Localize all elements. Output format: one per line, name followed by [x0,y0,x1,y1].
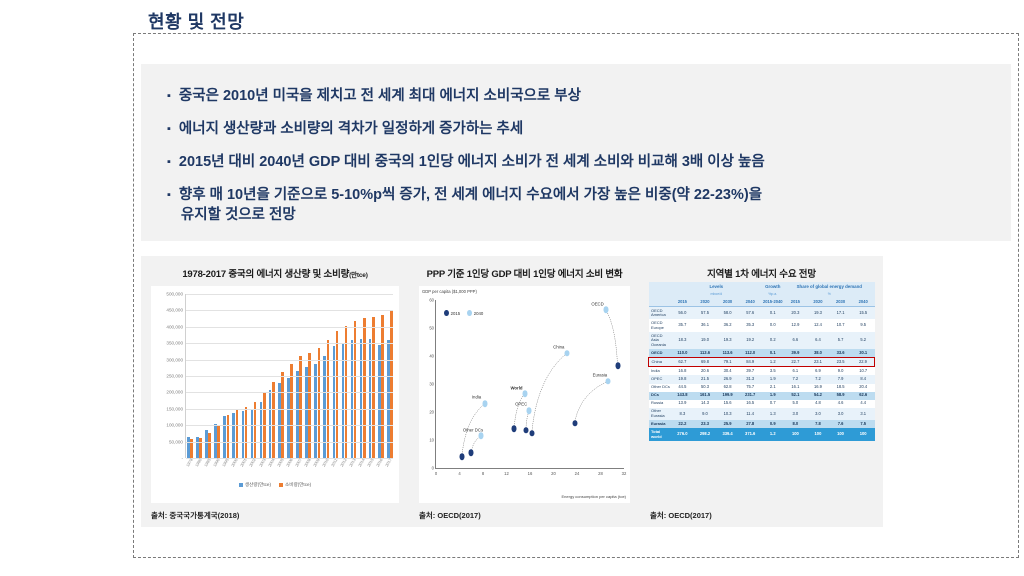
x-axis-tick: 2015 [366,458,375,468]
legend-item: 생산량(만tce) [239,482,271,488]
y-axis-tick: 200,000 [166,390,183,395]
scatter-chart: GDP per capita ($1,000 PPP) 20152040 010… [419,286,630,503]
table-cell: 298.2 [694,428,717,441]
bullet-marker: ▪ [167,86,171,106]
table-cell: 22.2 [671,420,694,428]
table-row-label: OECD America [649,306,672,319]
chart-title-unit: (만tce) [349,272,368,279]
grid-line [186,409,393,410]
table-group-subheader: % [784,290,874,297]
table-row-label: OECD Asia Oceania [649,332,672,349]
table-cell: 52.1 [784,392,807,400]
table-cell: 12.9 [784,319,807,332]
table-cell: 7.6 [829,420,852,428]
legend-item: 소비량(만tce) [279,482,311,488]
table-cell: 100 [852,428,875,441]
table-cell: 1.2 [761,358,784,367]
table-cell: 100 [807,428,830,441]
table-row-label: India [649,367,672,376]
table-cell: 16.9 [807,384,830,392]
table-cell: 35.3 [739,319,762,332]
table-cell: 6.6 [784,332,807,349]
table-cell: 3.1 [852,408,875,421]
table-row: India16.820.630.439.73.56.16.99.010.7 [649,367,875,376]
table-cell: 35.7 [671,319,694,332]
table-cell: 23.5 [829,358,852,367]
scatter-y-axis-label: GDP per capita ($1,000 PPP) [422,289,477,294]
y-axis-tick: 450,000 [166,308,183,313]
grid-line [186,343,393,344]
bar-legend: 생산량(만tce)소비량(만tce) [151,482,399,488]
grid-line [186,327,393,328]
slide: 현황 및 전망 ▪ 중국은 2010년 미국을 제치고 전 세계 최대 에너지 … [0,0,1024,576]
table-cell: 15.6 [716,400,739,408]
table-column-header: 2015-2040 [761,298,784,307]
bar [272,382,275,458]
table-cell: 113.6 [716,349,739,358]
bar [363,318,366,458]
table-column-header: 2040 [739,298,762,307]
table-cell: 15.5 [852,306,875,319]
table-group-subheader: %p.a. [761,290,784,297]
table-row: OPEC19.821.526.931.31.97.27.27.98.4 [649,375,875,383]
table-cell: 5.0 [784,400,807,408]
table-cell: 57.5 [694,306,717,319]
grid-line [186,310,393,311]
bar [336,331,339,458]
table-cell: 12.4 [807,319,830,332]
table-cell: 4.6 [829,400,852,408]
x-axis-tick: 2009 [312,458,321,468]
table-cell: 3.0 [784,408,807,421]
table-row-label: DCs [649,392,672,400]
table-cell: 33.6 [829,349,852,358]
table-cell: 62.7 [671,358,694,367]
table-column-header: 2030 [716,298,739,307]
x-axis-tick: 1980 [194,458,203,468]
y-axis-tick: 150,000 [166,406,183,411]
table-cell: 36.2 [716,319,739,332]
table-cell: 20.6 [694,367,717,376]
chart-title-text: PPP 기준 1인당 GDP 대비 1인당 에너지 소비 변화 [427,269,623,280]
table-cell: 26.9 [716,375,739,383]
table-row: OECD America56.057.558.057.60.120.319.31… [649,306,875,319]
table-cell: 0.1 [761,306,784,319]
table-cell: 69.8 [694,358,717,367]
table-column-header [649,298,672,307]
x-axis-tick: 2006 [285,458,294,468]
table-group-header: Growth [761,282,784,290]
table-cell: 54.2 [807,392,830,400]
page-title: 현황 및 전망 [148,8,244,34]
x-axis-tick: 2010 [321,458,330,468]
table-cell: 20.3 [784,306,807,319]
table-cell: 75.7 [739,384,762,392]
y-axis-tick: 10 [429,438,434,443]
table-cell: 44.5 [671,384,694,392]
table-cell: 0.7 [761,400,784,408]
table-column-header: 2015 [784,298,807,307]
y-axis-tick: - [181,456,183,461]
scatter-point-label: OECD [591,301,603,306]
table-cell: 56.0 [671,306,694,319]
table-cell: 143.8 [671,392,694,400]
scatter-x-axis-label: Energy consumption per capita (toe) [562,494,626,499]
grid-line [186,442,393,443]
table-cell: 1.3 [761,408,784,421]
table-cell: 16.8 [671,367,694,376]
table-column-header: 2020 [694,298,717,307]
x-axis-tick: 20 [551,471,556,476]
x-axis-tick: 1985 [203,458,212,468]
x-axis-tick: 2000 [230,458,239,468]
table-cell: 10.7 [852,367,875,376]
table-cell: 8.3 [671,408,694,421]
table-cell: 25.9 [716,420,739,428]
bar [372,317,375,458]
table-cell: 19.0 [694,332,717,349]
table-row: Other Eurasia8.39.010.311.41.33.03.03.03… [649,408,875,421]
table-group-header: Levels [671,282,761,290]
x-axis-tick: 8 [482,471,484,476]
table-cell: 22.9 [852,358,875,367]
table-cell: 339.4 [716,428,739,441]
table-cell: 57.6 [739,306,762,319]
table-cell: 18.5 [829,384,852,392]
table-row: Russia13.914.315.616.50.75.04.84.64.4 [649,400,875,408]
x-axis-tick: 2013 [348,458,357,468]
table-group-subheader: mboe/d [671,290,761,297]
table-group-header: Share of global energy demand [784,282,874,290]
x-axis-tick: 2014 [357,458,366,468]
table-cell: 110.0 [671,349,694,358]
table-cell: 39.7 [739,367,762,376]
y-axis-tick: 20 [429,410,434,415]
scatter-plot-area: 20152040 0102030405060048121620242832Ind… [435,300,624,469]
table-cell: 3.5 [761,367,784,376]
table-cell: 30.4 [716,367,739,376]
bullet-text: 2015년 대비 2040년 GDP 대비 중국의 1인당 에너지 소비가 전 … [179,152,765,172]
y-axis-tick: 50 [429,326,434,331]
table-row-label: Eurasia [649,420,672,428]
y-axis-tick: 40 [429,354,434,359]
bar-chart: -50,000100,000150,000200,000250,000300,0… [151,286,399,503]
table-row: OECD110.0113.6113.6112.00.139.938.033.63… [649,349,875,358]
table-row-label: Total world [649,428,672,441]
x-axis-tick: 2002 [248,458,257,468]
bar [354,321,357,458]
table-cell: 7.9 [829,375,852,383]
table-cell: 371.6 [739,428,762,441]
table-cell: 10.7 [829,319,852,332]
chart-panel-gdp-energy: PPP 기준 1인당 GDP 대비 1인당 에너지 소비 변화 GDP per … [409,256,640,527]
bar [227,415,230,458]
table-cell: 9.0 [829,367,852,376]
table-cell: 84.9 [739,358,762,367]
table-cell: 21.5 [694,375,717,383]
table-cell: 9.0 [694,408,717,421]
bar [254,402,257,458]
table-cell: 4.4 [852,400,875,408]
table-row: DCs143.8161.5199.9231.71.952.154.258.962… [649,392,875,400]
table-cell: 0.0 [761,319,784,332]
table-cell: 276.0 [671,428,694,441]
table-cell: 62.6 [852,392,875,400]
table-row-label: China [649,358,672,367]
x-axis-tick: 0 [435,471,437,476]
table-cell: 50.3 [694,384,717,392]
chart-title: 1978-2017 중국의 에너지 생산량 및 소비량(만tce) [141,256,409,280]
table-cell: 1.9 [761,375,784,383]
table-cell: 8.0 [784,420,807,428]
table-cell: 0.2 [761,332,784,349]
x-axis-tick: 2001 [239,458,248,468]
table-cell: 16.1 [784,384,807,392]
y-axis-tick: 100,000 [166,423,183,428]
table-cell: 112.0 [739,349,762,358]
bullet-text: 중국은 2010년 미국을 제치고 전 세계 최대 에너지 소비국으로 부상 [179,86,581,106]
bar [390,311,393,458]
table-row: Other DCs44.550.362.875.72.116.116.918.5… [649,384,875,392]
bullet-marker: ▪ [167,185,171,205]
x-axis-tick: 4 [458,471,460,476]
list-item: ▪ 2015년 대비 2040년 GDP 대비 중국의 1인당 에너지 소비가 … [167,152,985,172]
grid-line [186,294,393,295]
table-cell: 100 [784,428,807,441]
table-cell: 23.3 [694,420,717,428]
bar [381,315,384,458]
y-axis-tick: 500,000 [166,292,183,297]
table-row: OECD Europe35.736.136.235.30.012.912.410… [649,319,875,332]
chart-source: 출처: OECD(2017) [650,510,712,521]
table-cell: 19.3 [807,306,830,319]
x-axis-tick: 24 [575,471,580,476]
scatter-point-label: India [472,395,481,400]
x-axis-tick: 2017 [384,458,393,468]
grid-line [186,360,393,361]
table-cell: 0.1 [761,349,784,358]
chart-source: 출처: 중국국가통계국(2018) [151,510,239,521]
table-cell: 58.9 [829,392,852,400]
chart-panel-regional-demand: 지역별 1차 에너지 수요 전망 LevelsGrowthShare of gl… [640,256,883,527]
table-cell: 161.5 [694,392,717,400]
table-cell: 6.9 [807,367,830,376]
table-row-label: Russia [649,400,672,408]
table-cell: 1.2 [761,428,784,441]
table-cell: 79.1 [716,358,739,367]
y-axis-tick: 250,000 [166,374,183,379]
table-subheader-row: mboe/d%p.a.% [649,290,875,297]
table-cell: 5.2 [852,332,875,349]
bullet-text: 향후 매 10년을 기준으로 5-10%p씩 증가, 전 세계 에너지 수요에서… [179,185,762,225]
table-cell: 7.5 [852,420,875,428]
table-cell: 6.4 [807,332,830,349]
table-cell: 113.6 [694,349,717,358]
y-axis-tick: 0 [432,466,434,471]
bullet-text-line2: 유지할 것으로 전망 [179,205,762,225]
list-item: ▪ 향후 매 10년을 기준으로 5-10%p씩 증가, 전 세계 에너지 수요… [167,185,985,225]
table-cell: 4.8 [807,400,830,408]
table-column-header: 2040 [852,298,875,307]
grid-line [186,376,393,377]
bullet-text-line1: 향후 매 10년을 기준으로 5-10%p씩 증가, 전 세계 에너지 수요에서… [179,187,762,203]
x-axis-tick: 2004 [267,458,276,468]
legend-label: 생산량(만tce) [245,482,271,488]
table-cell: 36.1 [694,319,717,332]
scatter-point-label: OPEC [515,402,527,407]
table-row-label: Other Eurasia [649,408,672,421]
table-cell: 18.3 [671,332,694,349]
x-axis-tick: 2016 [375,458,384,468]
bar [236,410,239,458]
grid-line [186,392,393,393]
table-cell: 0.9 [761,420,784,428]
scatter-point-label: China [553,345,564,350]
bar [290,364,293,458]
table-cell: 13.9 [671,400,694,408]
x-axis-tick: 32 [622,471,627,476]
x-axis-tick: 1990 [212,458,221,468]
table-cell: 2.1 [761,384,784,392]
bullet-list: ▪ 중국은 2010년 미국을 제치고 전 세계 최대 에너지 소비국으로 부상… [141,64,1011,241]
table-cell: 5.7 [829,332,852,349]
chart-title-text: 1978-2017 중국의 에너지 생산량 및 소비량 [182,269,349,280]
legend-swatch [279,483,283,487]
table-cell: 62.8 [716,384,739,392]
table-cell: 3.0 [829,408,852,421]
chart-panel-production-consumption: 1978-2017 중국의 에너지 생산량 및 소비량(만tce) -50,00… [141,256,409,527]
x-axis-tick: 2005 [276,458,285,468]
chart-source: 출처: OECD(2017) [419,510,481,521]
bar [281,372,284,458]
table-cell: 1.9 [761,392,784,400]
table-cell: 7.2 [784,375,807,383]
table-cell: 39.9 [784,349,807,358]
table-cell: 19.2 [739,332,762,349]
bullet-marker: ▪ [167,119,171,139]
table-cell: 20.4 [852,384,875,392]
table-cell: 30.1 [852,349,875,358]
y-axis-tick: 400,000 [166,324,183,329]
table-cell: 17.1 [829,306,852,319]
bullet-text: 에너지 생산량과 소비량의 격차가 일정하게 증가하는 추세 [179,119,523,139]
table-cell: 231.7 [739,392,762,400]
scatter-connectors [436,300,624,468]
table-row: Total world276.0298.2339.4371.61.2100100… [649,428,875,441]
legend-swatch [239,483,243,487]
bar-x-axis: 1978198019851990199520002001200220032004… [185,460,393,465]
chart-title: PPP 기준 1인당 GDP 대비 1인당 에너지 소비 변화 [409,256,640,280]
table-cell: 9.5 [852,319,875,332]
table-head: LevelsGrowthShare of global energy deman… [649,282,875,306]
table-cell: 19.3 [716,332,739,349]
grid-line [186,425,393,426]
table-column-header: 2030 [829,298,852,307]
table-cell: 7.8 [807,420,830,428]
scatter-point-label: Eurasia [593,373,608,378]
table-column-header-row: 20152020203020402015-2040201520202030204… [649,298,875,307]
bar [208,433,211,458]
table-cell: 16.5 [739,400,762,408]
scatter-point-label: World [510,385,522,390]
list-item: ▪ 중국은 2010년 미국을 제치고 전 세계 최대 에너지 소비국으로 부상 [167,86,985,106]
y-axis-tick: 60 [429,298,434,303]
bar-plot-area: -50,000100,000150,000200,000250,000300,0… [185,294,393,458]
table-row-label: OPEC [649,375,672,383]
table-row-label: OECD [649,349,672,358]
table-column-header: 2020 [807,298,830,307]
x-axis-tick: 2012 [339,458,348,468]
table-cell: 19.8 [671,375,694,383]
bar [327,340,330,458]
table-cell: 8.4 [852,375,875,383]
chart-title: 지역별 1차 에너지 수요 전망 [640,256,883,280]
table-row-label: OECD Europe [649,319,672,332]
table-cell: 14.3 [694,400,717,408]
table-cell: 11.4 [739,408,762,421]
table-row: OECD Asia Oceania18.319.019.319.20.26.66… [649,332,875,349]
bullet-marker: ▪ [167,152,171,172]
chart-title-text: 지역별 1차 에너지 수요 전망 [707,269,816,280]
table-cell: 6.1 [784,367,807,376]
table-row-label: Other DCs [649,384,672,392]
x-axis-tick: 2008 [303,458,312,468]
y-axis-tick: 30 [429,382,434,387]
table-column-header: 2015 [671,298,694,307]
table-cell: 27.8 [739,420,762,428]
y-axis-tick: 350,000 [166,341,183,346]
x-axis-tick: 28 [598,471,603,476]
scatter-point-label: Other DCs [463,427,483,432]
table-cell: 38.0 [807,349,830,358]
regional-demand-table: LevelsGrowthShare of global energy deman… [648,282,875,441]
table-body: OECD America56.057.558.057.60.120.319.31… [649,306,875,441]
legend-label: 소비량(만tce) [285,482,311,488]
x-axis-tick: 2007 [294,458,303,468]
bar [299,356,302,458]
table-row: Eurasia22.223.325.927.80.98.07.87.67.5 [649,420,875,428]
list-item: ▪ 에너지 생산량과 소비량의 격차가 일정하게 증가하는 추세 [167,119,985,139]
x-axis-tick: 1978 [185,458,194,468]
x-axis-tick: 16 [528,471,533,476]
x-axis-tick: 1995 [221,458,230,468]
table-cell: 58.0 [716,306,739,319]
y-axis-tick: 50,000 [169,439,183,444]
x-axis-tick: 2003 [257,458,266,468]
table-cell: 10.3 [716,408,739,421]
table-cell: 22.7 [784,358,807,367]
table-group-header-row: LevelsGrowthShare of global energy deman… [649,282,875,290]
table-cell: 7.2 [807,375,830,383]
table-cell: 23.1 [807,358,830,367]
bar [245,407,248,458]
table-cell: 3.0 [807,408,830,421]
table-row: China62.769.879.184.91.222.723.123.522.9 [649,358,875,367]
table-cell: 31.3 [739,375,762,383]
x-axis-tick: 12 [504,471,509,476]
table-cell: 199.9 [716,392,739,400]
table-cell: 100 [829,428,852,441]
table-corner-cell [649,282,672,298]
y-axis-tick: 300,000 [166,357,183,362]
x-axis-tick: 2011 [330,458,339,468]
